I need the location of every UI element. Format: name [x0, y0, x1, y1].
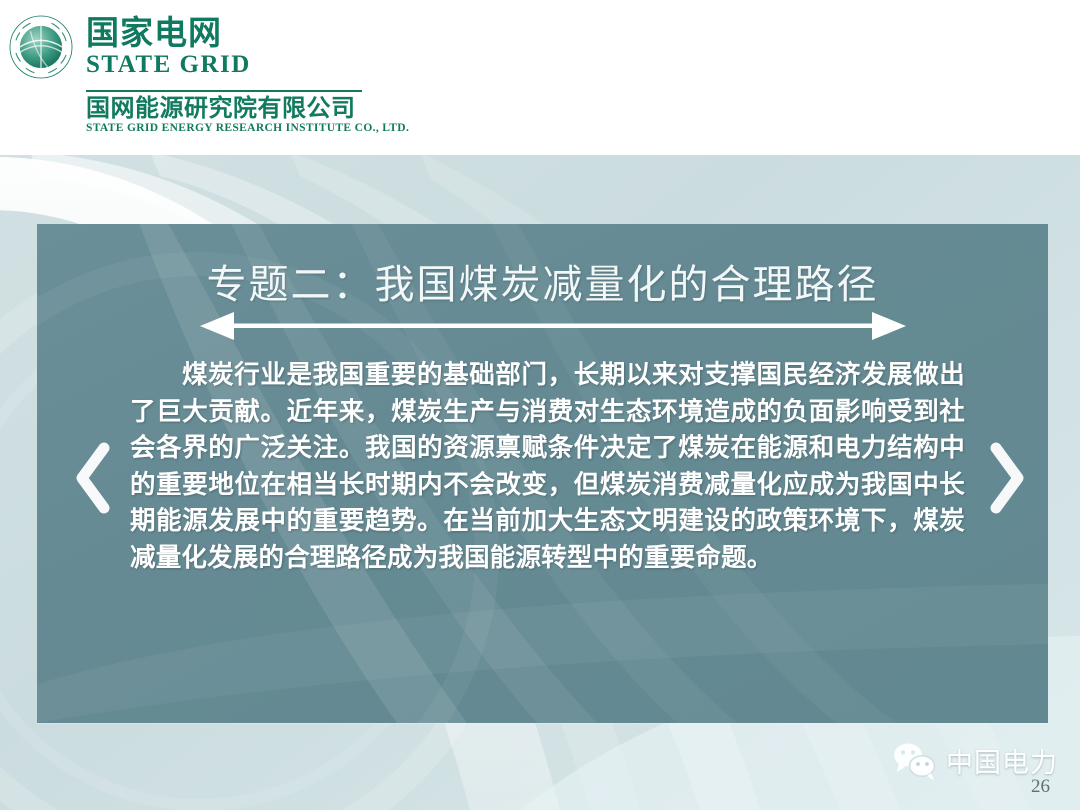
- wechat-watermark: 中国电力: [893, 741, 1058, 780]
- sub-brand-name-cn: 国网能源研究院有限公司: [86, 95, 426, 122]
- brand-name-en: STATE GRID: [86, 51, 386, 79]
- state-grid-globe-logo-icon: [8, 14, 74, 80]
- double-headed-arrow-icon: [200, 311, 906, 341]
- wechat-icon: [893, 742, 939, 780]
- content-panel: 专题二：我国煤炭减量化的合理路径 煤炭行业是我国重要的基础部门，长期以来对支撑国…: [37, 224, 1048, 723]
- brand-text-block: 国家电网 STATE GRID: [86, 16, 386, 78]
- chevron-right-icon[interactable]: [984, 440, 1030, 516]
- chevron-left-icon[interactable]: [70, 440, 116, 516]
- body-paragraph: 煤炭行业是我国重要的基础部门，长期以来对支撑国民经济发展做出了巨大贡献。近年来，…: [130, 357, 965, 576]
- brand-divider-rule: [86, 90, 362, 92]
- page-number: 26: [1031, 776, 1050, 798]
- panel-content: 专题二：我国煤炭减量化的合理路径 煤炭行业是我国重要的基础部门，长期以来对支撑国…: [37, 224, 1048, 723]
- sub-brand-text-block: 国网能源研究院有限公司 STATE GRID ENERGY RESEARCH I…: [86, 95, 426, 136]
- presentation-slide: 国家电网 STATE GRID 国网能源研究院有限公司 STATE GRID E…: [0, 0, 1080, 810]
- page-title: 专题二：我国煤炭减量化的合理路径: [37, 252, 1048, 310]
- brand-name-cn: 国家电网: [86, 16, 386, 51]
- slide-header: 国家电网 STATE GRID 国网能源研究院有限公司 STATE GRID E…: [0, 0, 1080, 155]
- sub-brand-name-en: STATE GRID ENERGY RESEARCH INSTITUTE CO.…: [86, 122, 426, 136]
- wechat-account-name: 中国电力: [946, 741, 1058, 780]
